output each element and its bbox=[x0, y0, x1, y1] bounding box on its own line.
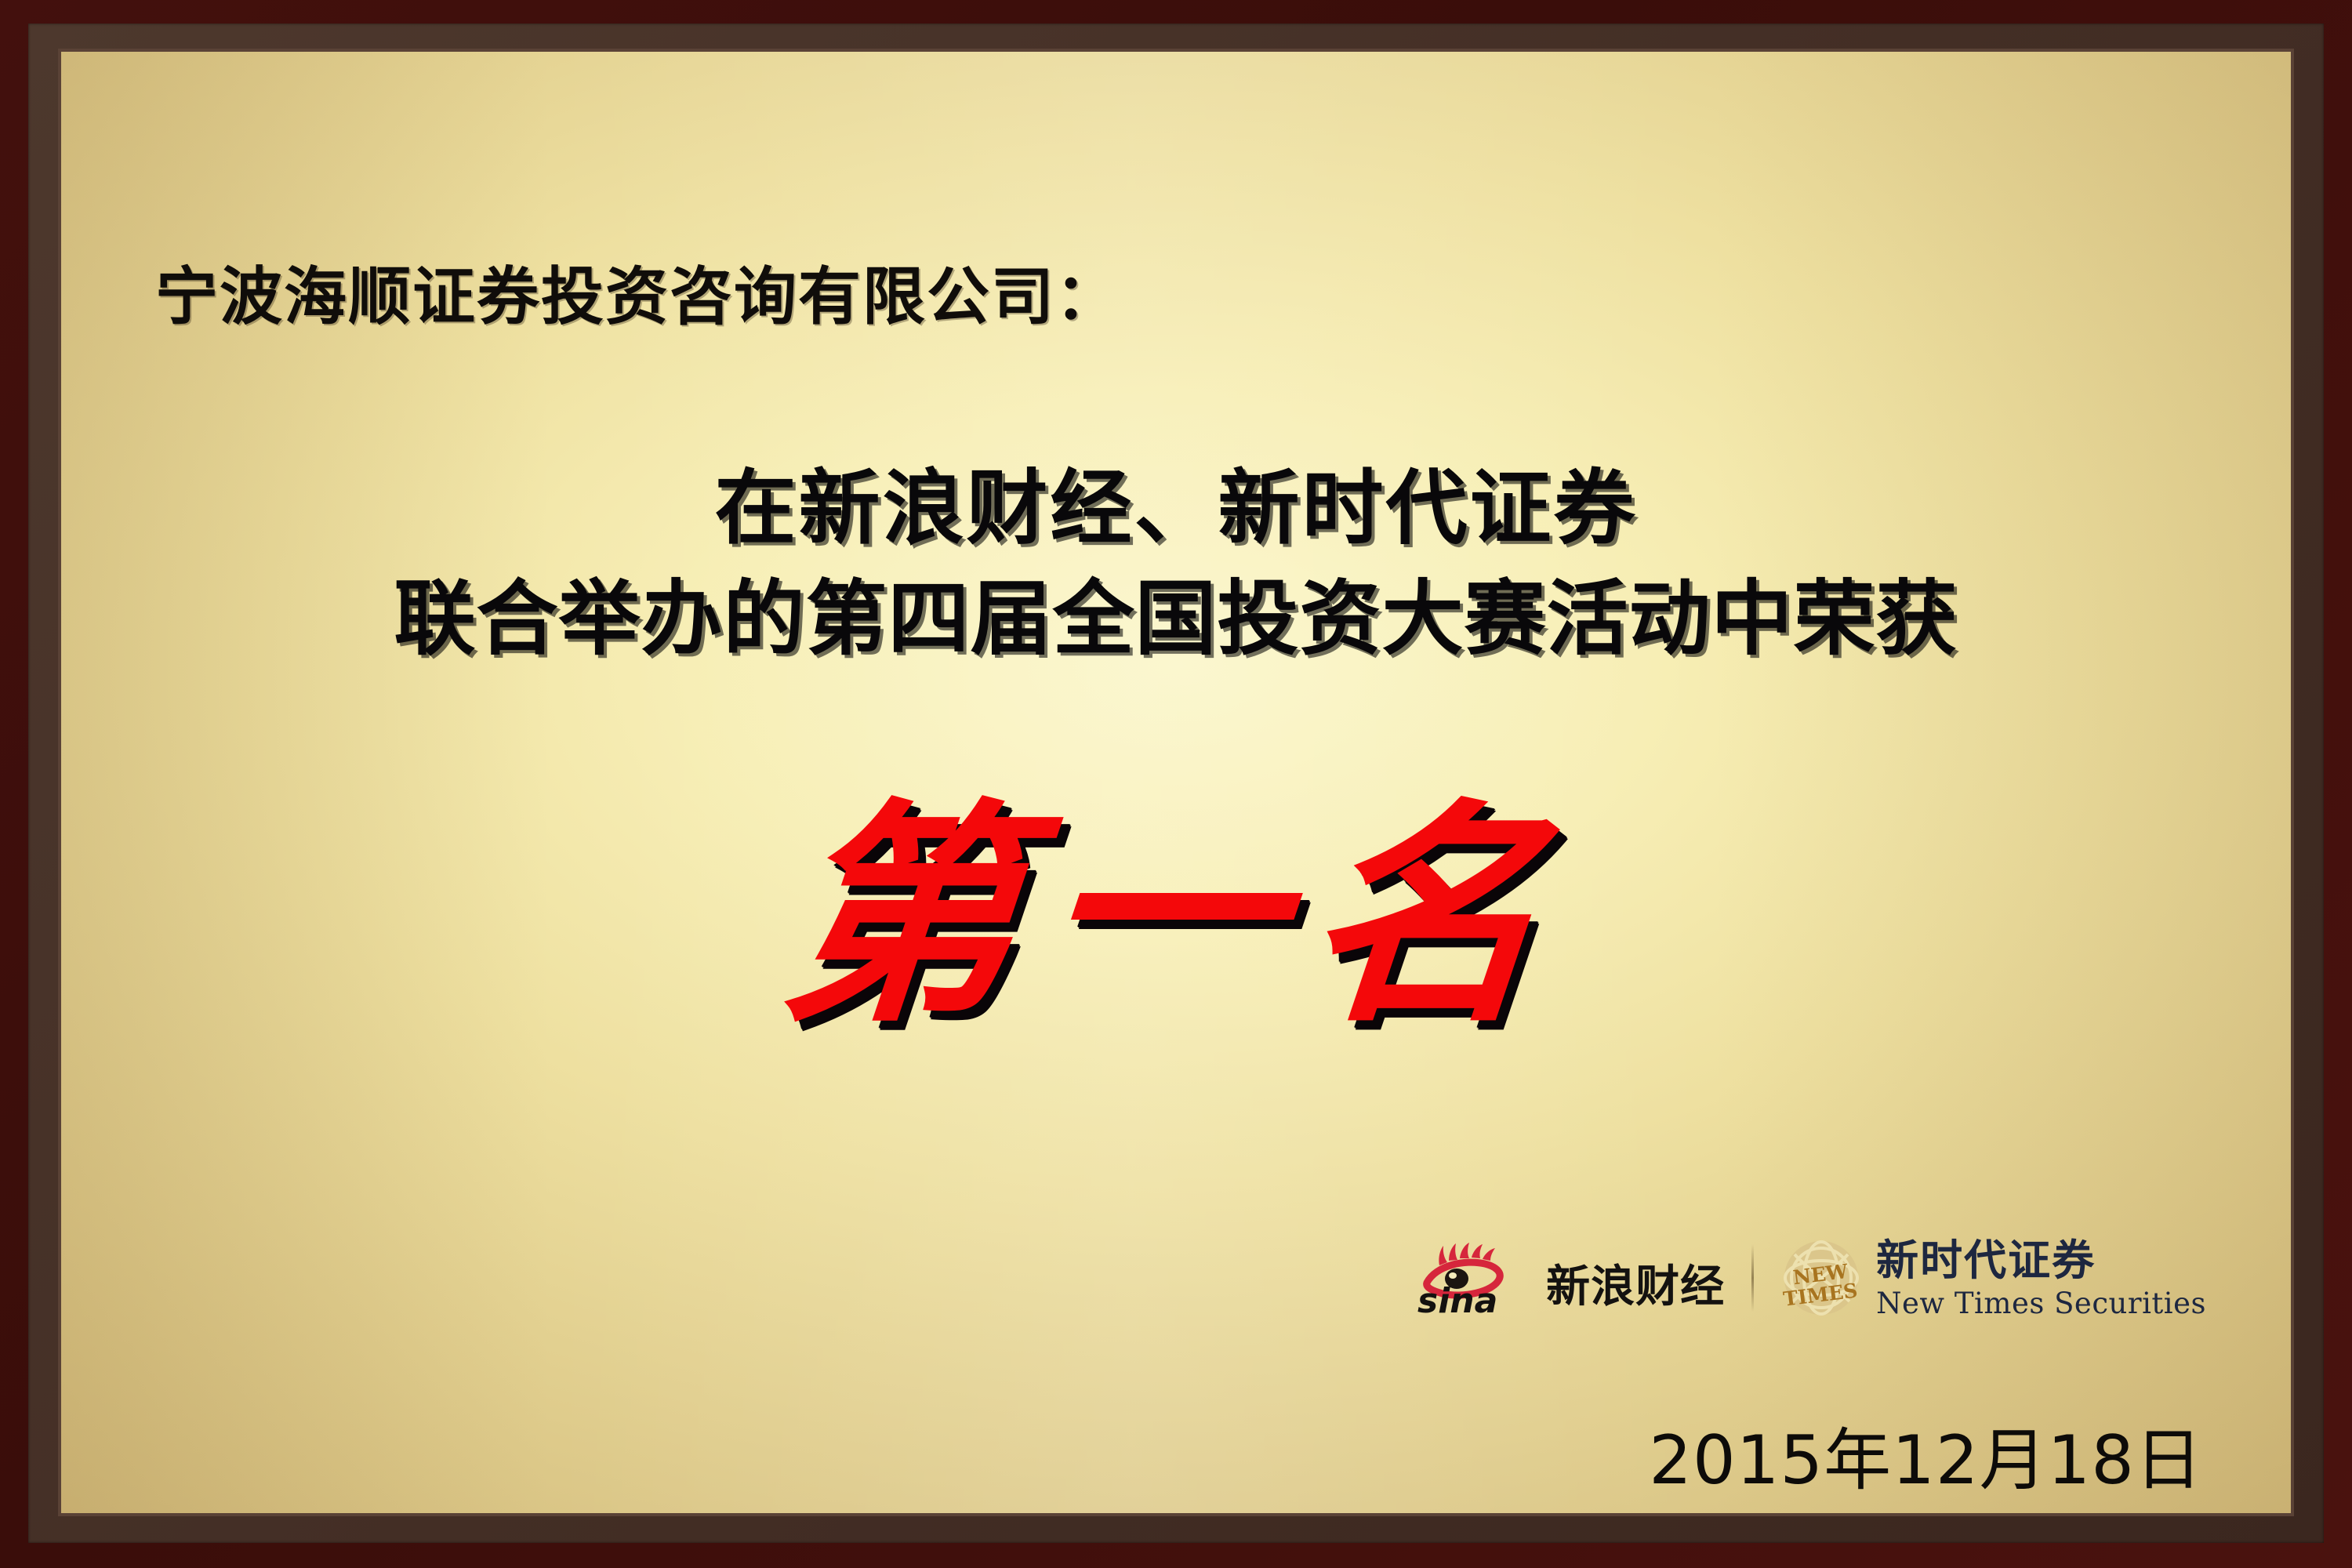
new-times-securities-logo: NEW TIMES 新时代证券 New Times Securities bbox=[1780, 1237, 2206, 1319]
citation-body: 在新浪财经、新时代证券 联合举办的第四届全国投资大赛活动中荣获 bbox=[61, 456, 2291, 671]
award-rank-title: 第一名 bbox=[772, 789, 1580, 1043]
logo-divider bbox=[1751, 1244, 1754, 1312]
sina-eye-icon: sina bbox=[1416, 1242, 1534, 1314]
citation-line-1: 在新浪财经、新时代证券 bbox=[61, 456, 2291, 561]
sponsor-logo-row: sina 新浪财经 bbox=[1416, 1237, 2206, 1319]
new-times-cn-label: 新时代证券 bbox=[1876, 1239, 2206, 1281]
svg-text:sina: sina bbox=[1417, 1281, 1497, 1314]
citation-line-2: 联合举办的第四届全国投资大赛活动中荣获 bbox=[61, 567, 2291, 671]
sina-finance-label: 新浪财经 bbox=[1546, 1265, 1725, 1314]
gold-plate: 宁波海顺证券投资咨询有限公司： 在新浪财经、新时代证券 联合举办的第四届全国投资… bbox=[61, 52, 2291, 1513]
award-date: 2015年12月18日 bbox=[1649, 1405, 2203, 1503]
sina-finance-logo: sina 新浪财经 bbox=[1416, 1242, 1725, 1314]
award-plaque: 宁波海顺证券投资咨询有限公司： 在新浪财经、新时代证券 联合举办的第四届全国投资… bbox=[0, 0, 2352, 1568]
newtimes-globe-icon: NEW TIMES bbox=[1780, 1237, 1862, 1319]
addressee-company-name: 宁波海顺证券投资咨询有限公司： bbox=[155, 246, 1120, 337]
award-title-wrap: 第一名 bbox=[61, 789, 2291, 1043]
new-times-en-label: New Times Securities bbox=[1876, 1289, 2206, 1318]
new-times-text-block: 新时代证券 New Times Securities bbox=[1876, 1239, 2206, 1318]
